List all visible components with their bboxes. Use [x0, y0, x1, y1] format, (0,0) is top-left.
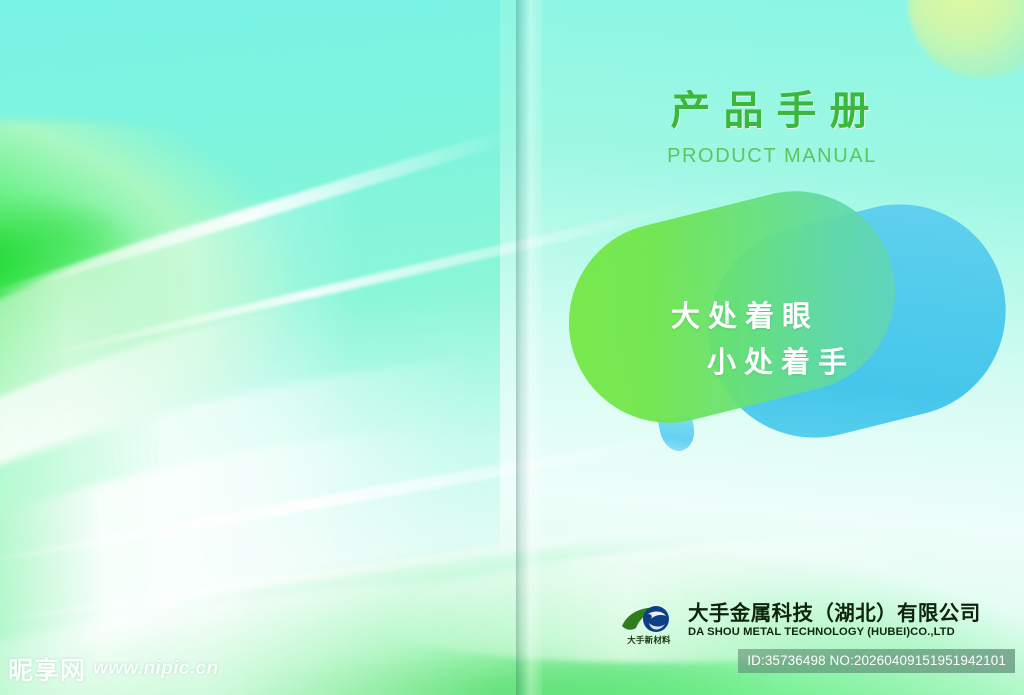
company-lockup: 大手新材料 大手金属科技（湖北）有限公司 DA SHOU METAL TECHN… — [618, 600, 981, 644]
company-name-group: 大手金属科技（湖北）有限公司 DA SHOU METAL TECHNOLOGY … — [688, 603, 981, 642]
site-watermark-cn: 昵享网 — [8, 651, 86, 687]
slogan-text-group: 大处着眼 小处着手 — [565, 205, 1005, 470]
page-title: 产品手册 — [560, 86, 980, 136]
slogan-line-1: 大处着眼 — [671, 293, 819, 335]
page-subtitle: PRODUCT MANUAL — [560, 145, 980, 168]
cover-title-block: 产品手册 PRODUCT MANUAL — [560, 86, 980, 168]
company-name-cn: 大手金属科技（湖北）有限公司 — [688, 603, 981, 625]
slogan-line-2: 小处着手 — [707, 339, 855, 381]
leaf-swirl-logo-icon: 大手新材料 — [618, 600, 680, 644]
product-manual-cover-spread: 产品手册 PRODUCT MANUAL 大处着眼 小处着手 大手新材料 大手金属… — [0, 0, 1024, 695]
slogan-badge: 大处着眼 小处着手 — [565, 205, 1005, 470]
site-watermark-url: www.nipic.cn — [93, 658, 219, 680]
company-name-en: DA SHOU METAL TECHNOLOGY (HUBEI)CO.,LTD — [688, 627, 981, 639]
logo-caption: 大手新材料 — [618, 634, 680, 646]
site-watermark: 昵享网 www.nipic.cn — [8, 651, 219, 687]
asset-id-watermark: ID:35736498 NO:20260409151951942101 — [738, 649, 1015, 673]
